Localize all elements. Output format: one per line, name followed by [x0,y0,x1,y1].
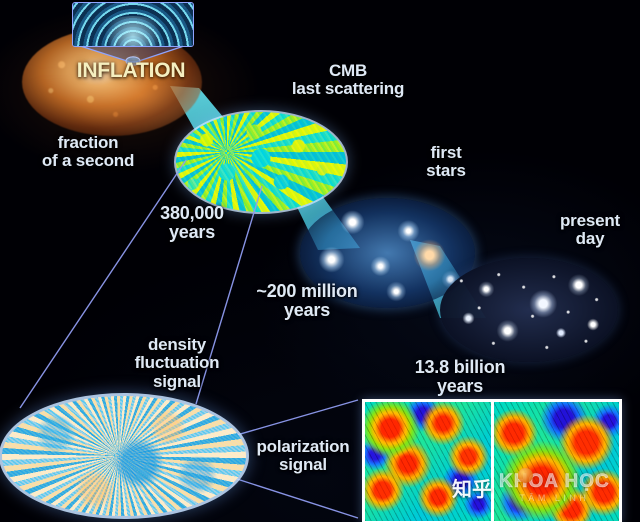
galaxy-starfield [440,258,618,362]
cmb-grain [176,112,346,212]
density-fluctuation-ellipse [2,396,246,516]
polarization-vectors-right [494,402,620,521]
first-stars-label: first stars [396,144,496,181]
present-day-disc [440,258,618,362]
density-fluctuation-signal-label: density fluctuation signal [102,336,252,391]
quantum-fluctuation-inset [72,2,194,47]
polarization-vectors-left [365,402,491,521]
present-day-label: present day [540,212,640,249]
years-380000-label: 380,000 years [132,204,252,243]
fraction-of-a-second-label: fraction of a second [8,134,168,171]
cmb-disc [176,112,346,212]
years-13-8-billion-label: 13.8 billion years [380,358,540,397]
cmb-last-scattering-label: CMB last scattering [268,62,428,99]
polarization-map-right [491,402,620,521]
polarization-signal-label: polarization signal [238,438,368,475]
polarization-panel [362,399,622,522]
density-fine-texture [2,396,246,516]
cosmic-history-diagram: INFLATION fraction of a second CMB last … [0,0,640,522]
polarization-map-left [365,402,491,521]
years-200-million-label: ~200 million years [232,282,382,321]
inflation-label: INFLATION [66,60,196,83]
